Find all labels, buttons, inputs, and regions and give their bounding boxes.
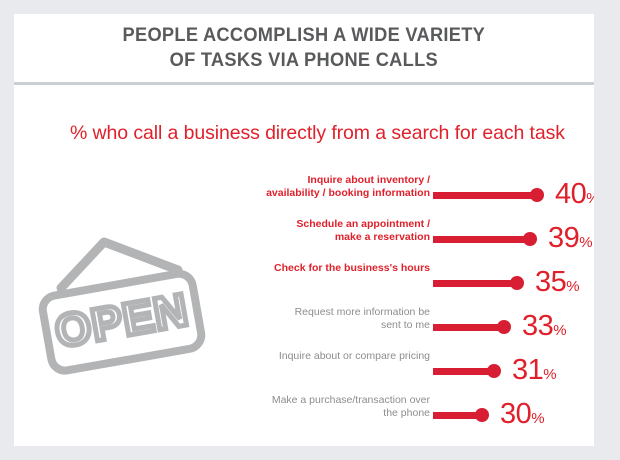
chart-subtitle: % who call a business directly from a se… <box>70 122 565 145</box>
row-bar-dot <box>510 276 524 290</box>
row-bar-dot <box>487 364 501 378</box>
row-value-number: 31 <box>512 354 543 386</box>
row-value: 31% <box>512 354 557 387</box>
row-value-number: 39 <box>548 222 579 254</box>
row-value-percent: % <box>553 322 566 339</box>
chart-row: Inquire about or compare pricing 31% <box>14 350 594 394</box>
row-bar-dot <box>523 232 537 246</box>
row-label: Schedule an appointment / make a reserva… <box>180 218 430 244</box>
row-value-percent: % <box>543 366 556 383</box>
chart-row: Make a purchase/transaction over the pho… <box>14 394 594 438</box>
row-value: 40% <box>555 178 594 211</box>
row-value-number: 40 <box>555 178 586 210</box>
row-value-number: 30 <box>500 398 531 430</box>
title-line-1: PEOPLE ACCOMPLISH A WIDE VARIETY <box>123 23 486 48</box>
chart-row: Request more information be sent to me 3… <box>14 306 594 350</box>
row-value-percent: % <box>531 410 544 427</box>
chart-row: Schedule an appointment / make a reserva… <box>14 218 594 262</box>
row-value: 33% <box>522 310 567 343</box>
infographic-card: PEOPLE ACCOMPLISH A WIDE VARIETY OF TASK… <box>14 14 594 446</box>
row-value: 39% <box>548 222 593 255</box>
row-bar <box>433 192 537 199</box>
row-bar-dot <box>530 188 544 202</box>
row-value: 35% <box>535 266 580 299</box>
row-value-percent: % <box>579 234 592 251</box>
row-bar <box>433 324 504 331</box>
row-value-number: 33 <box>522 310 553 342</box>
row-bar <box>433 368 494 375</box>
row-value-number: 35 <box>535 266 566 298</box>
row-bar <box>433 280 517 287</box>
row-label: Make a purchase/transaction over the pho… <box>180 394 430 420</box>
row-value: 30% <box>500 398 545 431</box>
bar-chart: Inquire about inventory / availability /… <box>14 174 594 438</box>
row-bar-dot <box>497 320 511 334</box>
chart-row: Check for the business's hours 35% <box>14 262 594 306</box>
row-label: Inquire about inventory / availability /… <box>180 174 430 200</box>
row-label: Check for the business's hours <box>180 262 430 275</box>
row-bar-dot <box>475 408 489 422</box>
page-title: PEOPLE ACCOMPLISH A WIDE VARIETY OF TASK… <box>14 14 594 82</box>
row-value-percent: % <box>586 190 594 207</box>
row-bar <box>433 236 530 243</box>
row-value-percent: % <box>566 278 579 295</box>
chart-row: Inquire about inventory / availability /… <box>14 174 594 218</box>
row-label: Inquire about or compare pricing <box>180 350 430 363</box>
header-divider <box>14 82 594 85</box>
row-label: Request more information be sent to me <box>180 306 430 332</box>
title-line-2: OF TASKS VIA PHONE CALLS <box>170 48 438 73</box>
